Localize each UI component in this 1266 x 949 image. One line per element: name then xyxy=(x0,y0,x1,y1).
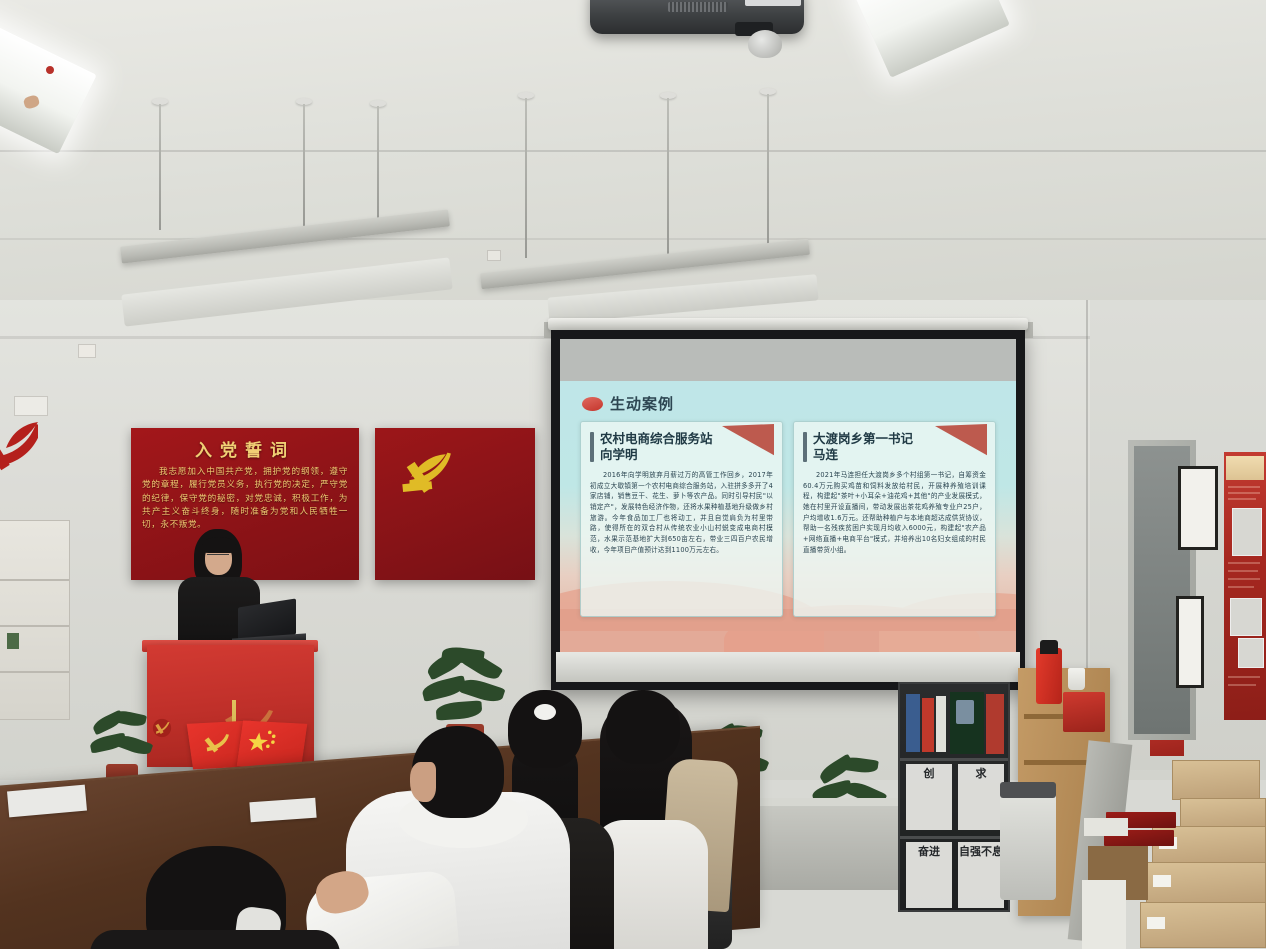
slide-title: 生动案例 xyxy=(610,393,674,414)
oath-body-text: 我志愿加入中国共产党，拥护党的纲领，遵守党的章程，履行党员义务，执行党的决定，严… xyxy=(142,466,348,533)
screen-bottom-bar xyxy=(556,652,1020,682)
attendee-head xyxy=(508,690,582,768)
screen-roller-case xyxy=(548,318,1028,330)
attendee-face xyxy=(410,762,436,802)
wall-switch[interactable] xyxy=(78,344,96,358)
banner-header xyxy=(1226,456,1264,480)
meeting-room-photo: 生动案例 农村电商综合服务站 向学明 2016年向学明放弃月薪过万的高管工作回乡… xyxy=(0,0,1266,949)
folding-chair[interactable] xyxy=(1000,790,1056,900)
left-cabinet xyxy=(0,520,70,720)
party-emblem-banner xyxy=(375,428,535,580)
slide-case-cards: 农村电商综合服务站 向学明 2016年向学明放弃月薪过万的高管工作回乡，2017… xyxy=(580,421,996,617)
light-rod xyxy=(525,98,527,258)
card-title-line2: 向学明 xyxy=(600,447,638,462)
calligraphy-panel: 自强不息 xyxy=(958,842,1004,908)
light-rod xyxy=(667,98,669,254)
calligraphy-char: 自强不息 xyxy=(959,845,1003,858)
attendee-body xyxy=(90,930,340,949)
calligraphy-panel: 奋进 xyxy=(906,842,952,908)
light-rod xyxy=(159,104,161,230)
ceiling-seam xyxy=(0,150,1266,152)
red-storage-box[interactable] xyxy=(1063,692,1105,732)
projector-mount xyxy=(748,30,782,58)
red-info-banner xyxy=(1224,452,1266,720)
card-heading: 农村电商综合服务站 向学明 xyxy=(590,431,773,463)
card-accent-bar xyxy=(590,432,594,462)
framed-certificate xyxy=(1178,466,1218,550)
direction-sign xyxy=(14,396,48,416)
archive-boxes xyxy=(1088,760,1266,949)
hammer-sickle-icon xyxy=(397,450,453,500)
card-title: 农村电商综合服务站 向学明 xyxy=(600,431,713,463)
hair-tie-icon xyxy=(534,704,556,720)
paper-cup[interactable] xyxy=(1068,668,1085,690)
glasses-icon xyxy=(207,554,229,561)
thermos-cap xyxy=(1040,640,1058,654)
banner-photo xyxy=(1232,508,1262,556)
screen-canvas: 生动案例 农村电商综合服务站 向学明 2016年向学明放弃月薪过万的高管工作回乡… xyxy=(560,339,1016,681)
card-title: 大渡岗乡第一书记 马连 xyxy=(813,431,913,463)
calligraphy-char: 求 xyxy=(976,767,987,780)
hammer-sickle-partial-icon xyxy=(0,418,38,478)
banner-photo xyxy=(1230,598,1262,636)
slide-header: 生动案例 xyxy=(582,393,674,414)
card-accent-bar xyxy=(803,432,807,462)
framed-photo xyxy=(1176,596,1204,688)
case-card: 大渡岗乡第一书记 马连 2021年马连担任大渡岗乡多个村组第一书记，自筹资金60… xyxy=(793,421,996,617)
card-body-text: 2021年马连担任大渡岗乡多个村组第一书记，自筹资金60.4万元购买鸡苗和饲料发… xyxy=(803,470,986,555)
projection-screen: 生动案例 农村电商综合服务站 向学明 2016年向学明放弃月薪过万的高管工作回乡… xyxy=(551,330,1025,690)
calligraphy-panel: 求 xyxy=(958,764,1004,830)
projector-label xyxy=(745,0,801,6)
banner-photo xyxy=(1238,638,1264,668)
chair-seat xyxy=(1000,782,1056,798)
card-title-line2: 马连 xyxy=(813,447,838,462)
wall-socket xyxy=(487,250,501,261)
ceiling xyxy=(0,0,1266,330)
presentation-slide: 生动案例 农村电商综合服务站 向学明 2016年向学明放弃月薪过万的高管工作回乡… xyxy=(560,381,1016,631)
calligraphy-char: 奋进 xyxy=(918,845,940,858)
card-title-line1: 农村电商综合服务站 xyxy=(600,431,713,446)
card-body-text: 2016年向学明放弃月薪过万的高管工作回乡，2017年初成立大歇镇第一个农村电商… xyxy=(590,470,773,555)
light-rod xyxy=(303,104,305,226)
calligraphy-char: 创 xyxy=(924,767,935,780)
card-heading: 大渡岗乡第一书记 马连 xyxy=(803,431,986,463)
light-rod xyxy=(767,94,769,252)
case-card: 农村电商综合服务站 向学明 2016年向学明放弃月薪过万的高管工作回乡，2017… xyxy=(580,421,783,617)
display-cabinet: 创 求 奋进 自强不息 xyxy=(898,682,1010,912)
presenter-fringe xyxy=(202,537,236,553)
calligraphy-panel: 创 xyxy=(906,764,952,830)
oath-title: 入党誓词 xyxy=(142,436,348,461)
attendee-head xyxy=(606,690,680,764)
card-title-line1: 大渡岗乡第一书记 xyxy=(813,431,913,446)
thermos-flask[interactable] xyxy=(1036,648,1062,704)
light-rod xyxy=(377,106,379,224)
projector-vent-icon xyxy=(668,2,728,12)
party-badge-icon xyxy=(46,66,54,74)
red-oval-bullet-icon xyxy=(582,397,603,411)
